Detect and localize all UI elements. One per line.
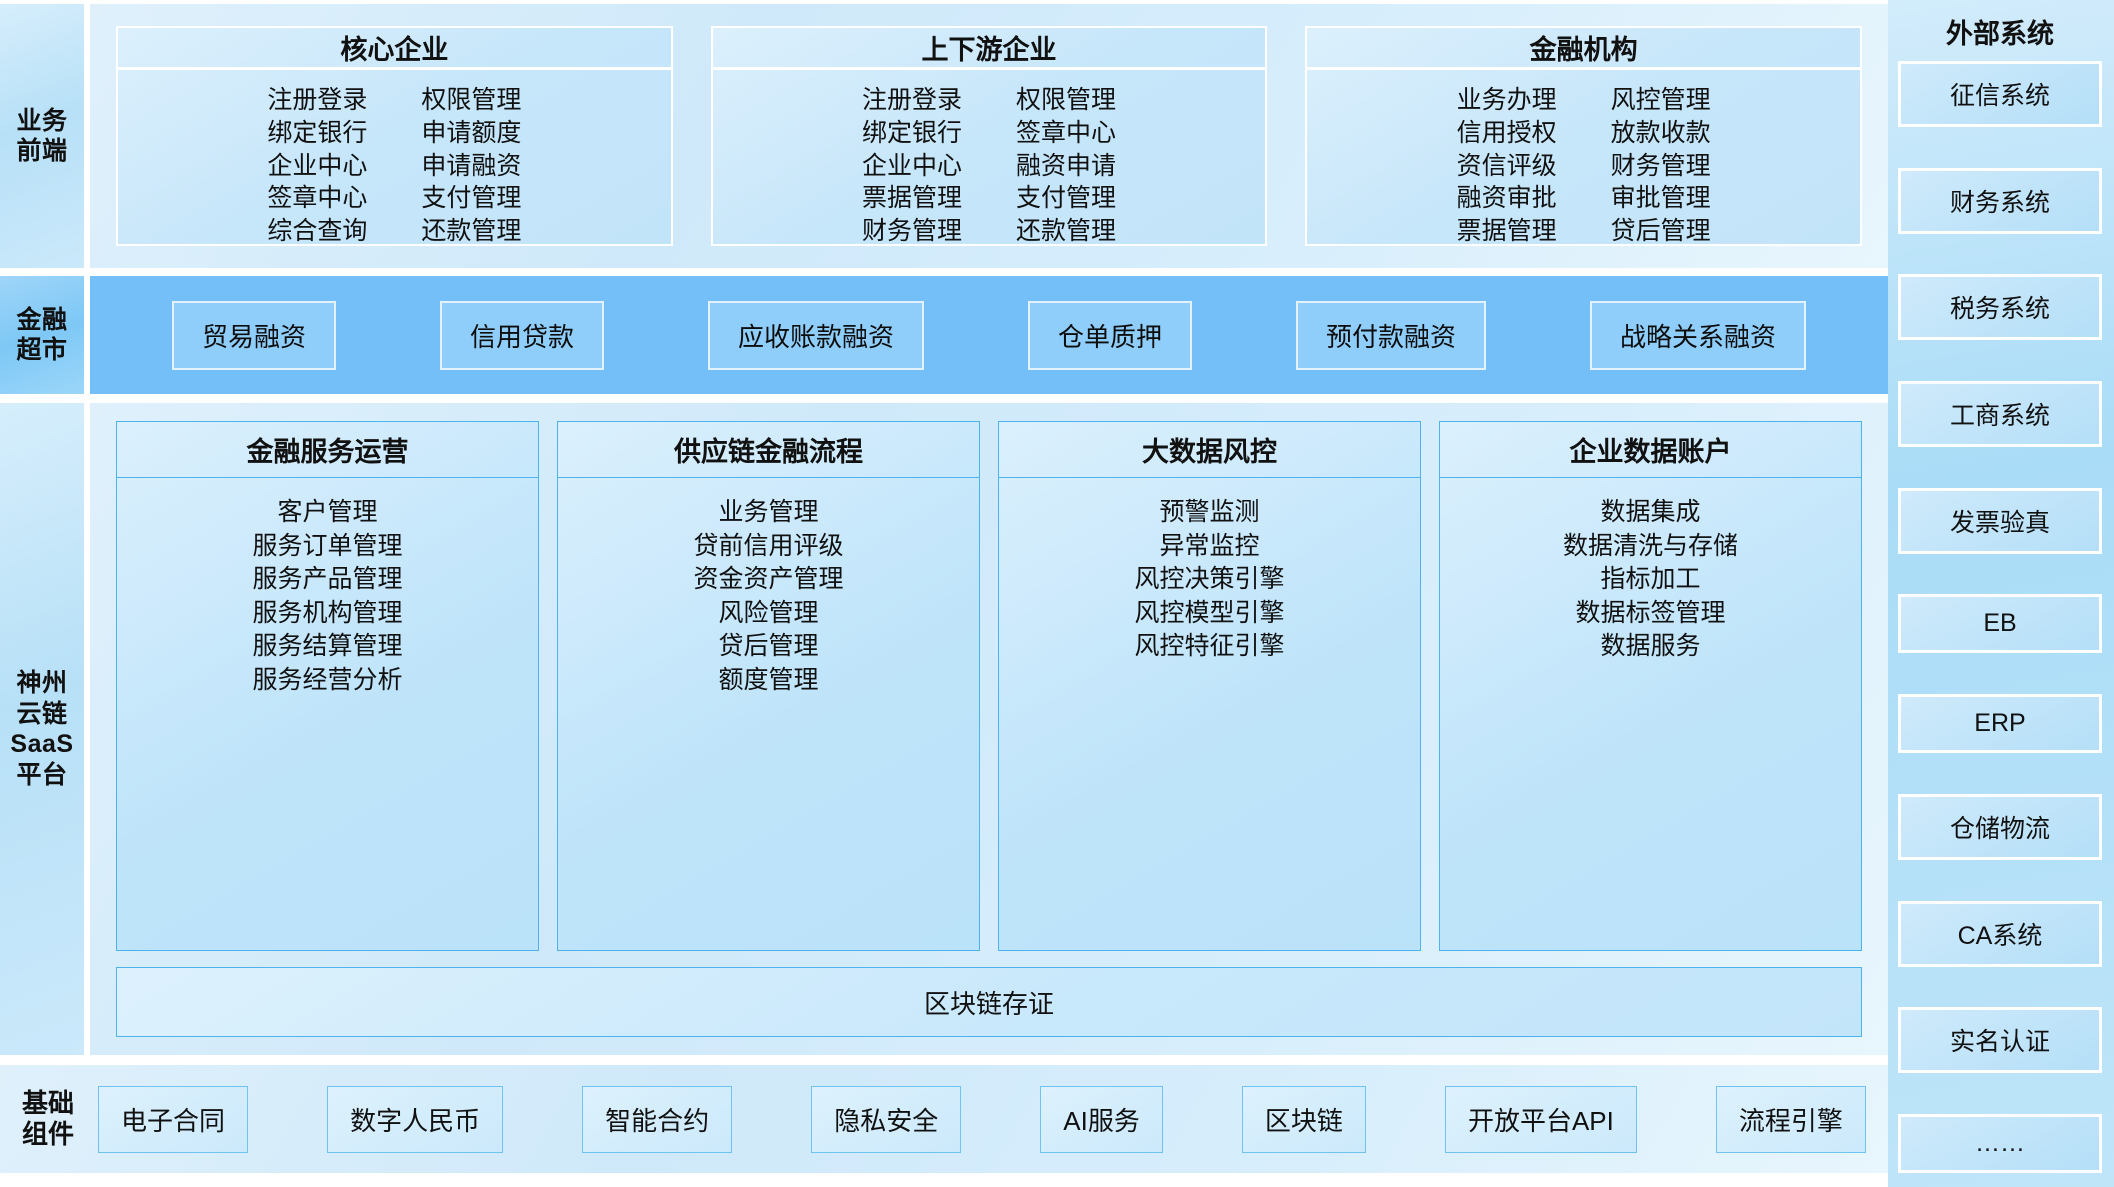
layer-business-front-end: 业务 前端 核心企业 注册登录 绑定银行 企业中心 签章中心 [0, 0, 1888, 268]
list-item: 贷后管理 [1611, 215, 1711, 248]
finance-product-warehouse-receipt-pledge[interactable]: 仓单质押 [1028, 301, 1192, 370]
external-system-finance[interactable]: 财务系统 [1898, 168, 2102, 234]
list-item: 绑定银行 [862, 117, 962, 150]
front-card-column-2: 风控管理 放款收款 财务管理 审批管理 贷后管理 [1611, 84, 1711, 248]
list-item: 注册登录 [267, 84, 367, 117]
list-item: 绑定银行 [267, 117, 367, 150]
front-card-upstream-downstream-enterprise[interactable]: 上下游企业 注册登录 绑定银行 企业中心 票据管理 财务管理 权限管理 [711, 26, 1268, 246]
component-blockchain[interactable]: 区块链 [1242, 1086, 1366, 1153]
list-item: 风控特征引擎 [1134, 630, 1284, 664]
list-item: 还款管理 [1016, 215, 1116, 248]
finance-product-receivables-financing[interactable]: 应收账款融资 [708, 301, 924, 370]
layer-label-finance-supermarket: 金融 超市 [0, 276, 84, 394]
external-system-warehouse-logistics[interactable]: 仓储物流 [1898, 794, 2102, 860]
saas-card-enterprise-data-account[interactable]: 企业数据账户 数据集成 数据清洗与存储 指标加工 数据标签管理 数据服务 [1439, 421, 1862, 951]
layer-base-components: 基础 组件 电子合同 数字人民币 智能合约 隐私安全 AI服务 区块链 开放平台… [0, 1065, 1888, 1173]
list-item: 预警监测 [1159, 496, 1259, 530]
external-system-more[interactable]: …… [1898, 1114, 2102, 1173]
finance-supermarket-body: 贸易融资 信用贷款 应收账款融资 仓单质押 预付款融资 战略关系融资 [90, 276, 1888, 394]
list-item: 服务产品管理 [252, 563, 402, 597]
list-item: 风控模型引擎 [1134, 597, 1284, 631]
list-item: 支付管理 [421, 182, 521, 215]
component-open-platform-api[interactable]: 开放平台API [1445, 1086, 1637, 1153]
front-card-column-1: 注册登录 绑定银行 企业中心 票据管理 财务管理 [862, 84, 962, 248]
list-item: 客户管理 [277, 496, 377, 530]
list-item: 企业中心 [267, 150, 367, 183]
finance-product-strategic-relationship-financing[interactable]: 战略关系融资 [1590, 301, 1806, 370]
list-item: 票据管理 [862, 182, 962, 215]
external-system-tax[interactable]: 税务系统 [1898, 274, 2102, 340]
list-item: 数据集成 [1600, 496, 1700, 530]
blockchain-evidence-bar[interactable]: 区块链存证 [116, 967, 1862, 1037]
external-systems-panel: 外部系统 征信系统 财务系统 税务系统 工商系统 发票验真 EB ERP 仓储物… [1888, 0, 2114, 1187]
label-line-3: SaaS [10, 729, 73, 760]
label-line-1: 神州 [10, 668, 73, 699]
layer-saas-platform: 神州 云链 SaaS 平台 金融服务运营 客户管理 服务订单管理 [0, 403, 1888, 1055]
main-column: 业务 前端 核心企业 注册登录 绑定银行 企业中心 签章中心 [0, 0, 1888, 1187]
list-item: 数据标签管理 [1575, 597, 1725, 631]
list-item: 数据服务 [1600, 630, 1700, 664]
base-components-list: 电子合同 数字人民币 智能合约 隐私安全 AI服务 区块链 开放平台API 流程… [98, 1086, 1866, 1153]
list-item: 业务管理 [718, 496, 818, 530]
layer-label-base-components: 基础 组件 [22, 1088, 74, 1150]
list-item: 签章中心 [267, 182, 367, 215]
list-item: 综合查询 [267, 215, 367, 248]
external-system-eb[interactable]: EB [1898, 594, 2102, 653]
component-smart-contract[interactable]: 智能合约 [582, 1086, 732, 1153]
list-item: 指标加工 [1600, 563, 1700, 597]
list-item: 财务管理 [1611, 150, 1711, 183]
layer-label-saas-platform: 神州 云链 SaaS 平台 [0, 403, 84, 1055]
external-system-erp[interactable]: ERP [1898, 694, 2102, 753]
list-item: 注册登录 [862, 84, 962, 117]
label-line-2: 超市 [16, 335, 67, 366]
list-item: 风控管理 [1611, 84, 1711, 117]
label-line-2: 前端 [16, 136, 67, 167]
front-card-title: 金融机构 [1307, 28, 1860, 70]
list-item: 资金资产管理 [693, 563, 843, 597]
saas-card-title: 大数据风控 [999, 422, 1420, 478]
list-item: 服务经营分析 [252, 664, 402, 698]
finance-product-credit-loan[interactable]: 信用贷款 [440, 301, 604, 370]
external-system-ca[interactable]: CA系统 [1898, 901, 2102, 967]
label-line-1: 基础 [22, 1088, 74, 1119]
external-system-invoice-verification[interactable]: 发票验真 [1898, 488, 2102, 554]
list-item: 支付管理 [1016, 182, 1116, 215]
component-process-engine[interactable]: 流程引擎 [1716, 1086, 1866, 1153]
saas-platform-body: 金融服务运营 客户管理 服务订单管理 服务产品管理 服务机构管理 服务结算管理 … [90, 403, 1888, 1055]
front-card-title: 上下游企业 [713, 28, 1266, 70]
label-line-1: 金融 [16, 305, 67, 336]
list-item: 风控决策引擎 [1134, 563, 1284, 597]
front-card-core-enterprise[interactable]: 核心企业 注册登录 绑定银行 企业中心 签章中心 综合查询 权限管理 [116, 26, 673, 246]
list-item: 申请融资 [421, 150, 521, 183]
list-item: 服务订单管理 [252, 530, 402, 564]
saas-card-title: 金融服务运营 [117, 422, 538, 478]
label-line-4: 平台 [10, 760, 73, 791]
list-item: 权限管理 [421, 84, 521, 117]
list-item: 融资申请 [1016, 150, 1116, 183]
list-item: 数据清洗与存储 [1563, 530, 1738, 564]
list-item: 信用授权 [1457, 117, 1557, 150]
component-digital-rmb[interactable]: 数字人民币 [327, 1086, 503, 1153]
label-line-2: 云链 [10, 699, 73, 730]
list-item: 放款收款 [1611, 117, 1711, 150]
label-line-1: 业务 [16, 106, 67, 137]
list-item: 财务管理 [862, 215, 962, 248]
list-item: 服务机构管理 [252, 597, 402, 631]
list-item: 贷前信用评级 [693, 530, 843, 564]
external-systems-title: 外部系统 [1898, 4, 2102, 61]
label-line-2: 组件 [22, 1119, 74, 1150]
list-item: 申请额度 [421, 117, 521, 150]
list-item: 权限管理 [1016, 84, 1116, 117]
external-system-business-registration[interactable]: 工商系统 [1898, 381, 2102, 447]
list-item: 签章中心 [1016, 117, 1116, 150]
layer-finance-supermarket: 金融 超市 贸易融资 信用贷款 应收账款融资 仓单质押 预付款融资 战略关系融资 [0, 276, 1888, 394]
front-card-column-1: 业务办理 信用授权 资信评级 融资审批 票据管理 [1457, 84, 1557, 248]
list-item: 业务办理 [1457, 84, 1557, 117]
architecture-diagram: 业务 前端 核心企业 注册登录 绑定银行 企业中心 签章中心 [0, 0, 2114, 1187]
list-item: 企业中心 [862, 150, 962, 183]
front-card-column-2: 权限管理 签章中心 融资申请 支付管理 还款管理 [1016, 84, 1116, 248]
finance-product-trade-financing[interactable]: 贸易融资 [172, 301, 336, 370]
front-card-financial-institution[interactable]: 金融机构 业务办理 信用授权 资信评级 融资审批 票据管理 风控管理 [1305, 26, 1862, 246]
saas-card-supply-chain-finance-process[interactable]: 供应链金融流程 业务管理 贷前信用评级 资金资产管理 风险管理 贷后管理 额度管… [557, 421, 980, 951]
front-card-title: 核心企业 [118, 28, 671, 70]
list-item: 风险管理 [718, 597, 818, 631]
saas-card-title: 企业数据账户 [1440, 422, 1861, 478]
list-item: 额度管理 [718, 664, 818, 698]
list-item: 服务结算管理 [252, 630, 402, 664]
saas-card-financial-service-operation[interactable]: 金融服务运营 客户管理 服务订单管理 服务产品管理 服务机构管理 服务结算管理 … [116, 421, 539, 951]
business-front-end-body: 核心企业 注册登录 绑定银行 企业中心 签章中心 综合查询 权限管理 [90, 4, 1888, 268]
saas-card-big-data-risk-control[interactable]: 大数据风控 预警监测 异常监控 风控决策引擎 风控模型引擎 风控特征引擎 [998, 421, 1421, 951]
external-system-real-name-authentication[interactable]: 实名认证 [1898, 1007, 2102, 1073]
front-card-column-2: 权限管理 申请额度 申请融资 支付管理 还款管理 [421, 84, 521, 248]
list-item: 资信评级 [1457, 150, 1557, 183]
component-ai-service[interactable]: AI服务 [1040, 1086, 1163, 1153]
list-item: 票据管理 [1457, 215, 1557, 248]
layer-label-business-front-end: 业务 前端 [0, 4, 84, 268]
list-item: 异常监控 [1159, 530, 1259, 564]
component-electronic-contract[interactable]: 电子合同 [98, 1086, 248, 1153]
front-card-column-1: 注册登录 绑定银行 企业中心 签章中心 综合查询 [267, 84, 367, 248]
list-item: 还款管理 [421, 215, 521, 248]
saas-card-title: 供应链金融流程 [558, 422, 979, 478]
external-system-credit-reporting[interactable]: 征信系统 [1898, 61, 2102, 127]
component-privacy-security[interactable]: 隐私安全 [811, 1086, 961, 1153]
list-item: 融资审批 [1457, 182, 1557, 215]
external-systems-list: 征信系统 财务系统 税务系统 工商系统 发票验真 EB ERP 仓储物流 CA系… [1898, 61, 2102, 1177]
list-item: 审批管理 [1611, 182, 1711, 215]
list-item: 贷后管理 [718, 630, 818, 664]
finance-product-prepayment-financing[interactable]: 预付款融资 [1296, 301, 1486, 370]
